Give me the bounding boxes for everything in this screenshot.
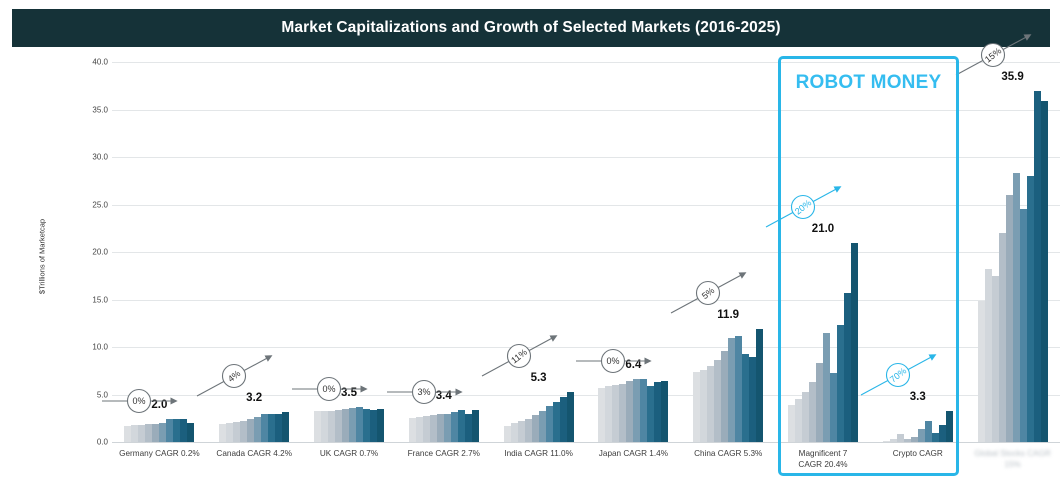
bar[interactable] xyxy=(444,414,451,443)
value-label-canada: 3.2 xyxy=(219,392,289,404)
bar-series xyxy=(314,62,384,442)
bar[interactable] xyxy=(321,411,328,442)
bar[interactable] xyxy=(567,392,574,442)
bar[interactable] xyxy=(978,301,985,442)
bar-group-canada[interactable] xyxy=(219,62,289,442)
y-tick-20.0: 20.0 xyxy=(92,248,108,257)
bar[interactable] xyxy=(166,419,173,442)
bar[interactable] xyxy=(370,410,377,442)
bar[interactable] xyxy=(268,414,275,443)
bar[interactable] xyxy=(423,416,430,442)
bar[interactable] xyxy=(546,406,553,442)
x-tick-canada: Canada CAGR 4.2% xyxy=(207,448,302,459)
bar[interactable] xyxy=(226,423,233,442)
value-label-india: 5.3 xyxy=(504,372,574,384)
y-axis-tick-labels: 0.05.010.015.020.025.030.035.040.0 xyxy=(72,62,108,442)
value-label-france: 3.4 xyxy=(409,390,479,402)
bar[interactable] xyxy=(1020,209,1027,442)
bar[interactable] xyxy=(240,421,247,442)
bar[interactable] xyxy=(633,379,640,442)
bar[interactable] xyxy=(458,410,465,442)
bar[interactable] xyxy=(1041,101,1048,442)
bar[interactable] xyxy=(437,414,444,442)
bar[interactable] xyxy=(1013,173,1020,442)
bar[interactable] xyxy=(342,409,349,442)
bar[interactable] xyxy=(532,415,539,442)
bar[interactable] xyxy=(756,329,763,442)
bar[interactable] xyxy=(233,422,240,442)
bar[interactable] xyxy=(518,421,525,442)
bar[interactable] xyxy=(314,411,321,442)
bar-group-india[interactable] xyxy=(504,62,574,442)
y-tick-40.0: 40.0 xyxy=(92,58,108,67)
bar[interactable] xyxy=(1006,195,1013,442)
bar[interactable] xyxy=(430,415,437,442)
bar[interactable] xyxy=(131,425,138,442)
bar[interactable] xyxy=(349,408,356,442)
bar[interactable] xyxy=(356,407,363,442)
bar-series xyxy=(978,62,1048,442)
chart-page: Market Capitalizations and Growth of Sel… xyxy=(0,0,1062,486)
bar[interactable] xyxy=(693,372,700,442)
bar[interactable] xyxy=(173,419,180,442)
bar[interactable] xyxy=(377,409,384,442)
page-title: Market Capitalizations and Growth of Sel… xyxy=(281,19,780,37)
bar[interactable] xyxy=(742,354,749,442)
bar[interactable] xyxy=(525,419,532,442)
bar[interactable] xyxy=(700,370,707,442)
bar[interactable] xyxy=(451,412,458,442)
bar-group-germany[interactable] xyxy=(124,62,194,442)
bar[interactable] xyxy=(504,426,511,442)
y-tick-15.0: 15.0 xyxy=(92,295,108,304)
value-label-uk: 3.5 xyxy=(314,387,384,399)
bar[interactable] xyxy=(159,423,166,442)
value-label-germany: 2.0 xyxy=(124,399,194,411)
x-tick-global-stocks: Global Stocks CAGR 15% xyxy=(965,448,1060,470)
bar[interactable] xyxy=(247,419,254,442)
x-tick-india: India CAGR 11.0% xyxy=(491,448,586,459)
x-tick-uk: UK CAGR 0.7% xyxy=(302,448,397,459)
x-tick-germany: Germany CAGR 0.2% xyxy=(112,448,207,459)
bar[interactable] xyxy=(721,351,728,442)
bar[interactable] xyxy=(560,397,567,442)
bar-group-france[interactable] xyxy=(409,62,479,442)
bar[interactable] xyxy=(714,360,721,442)
bar[interactable] xyxy=(335,410,342,442)
bar[interactable] xyxy=(605,386,612,442)
bar[interactable] xyxy=(999,233,1006,442)
bar[interactable] xyxy=(328,411,335,442)
bar[interactable] xyxy=(612,385,619,442)
bar[interactable] xyxy=(363,409,370,442)
bar[interactable] xyxy=(145,424,152,442)
bar-group-uk[interactable] xyxy=(314,62,384,442)
bar[interactable] xyxy=(219,424,226,442)
x-tick-china: China CAGR 5.3% xyxy=(681,448,776,459)
bar[interactable] xyxy=(598,388,605,442)
bar-series xyxy=(504,62,574,442)
bar[interactable] xyxy=(749,357,756,443)
bar[interactable] xyxy=(261,414,268,442)
bar[interactable] xyxy=(707,366,714,442)
bar[interactable] xyxy=(254,417,261,442)
bar[interactable] xyxy=(539,411,546,442)
bar[interactable] xyxy=(626,381,633,442)
bar-group-china[interactable] xyxy=(693,62,763,442)
value-label-china: 11.9 xyxy=(693,309,763,321)
x-tick-france: France CAGR 2.7% xyxy=(396,448,491,459)
y-tick-35.0: 35.0 xyxy=(92,105,108,114)
bar[interactable] xyxy=(985,269,992,442)
bar-series xyxy=(124,62,194,442)
bar[interactable] xyxy=(138,425,145,442)
bar[interactable] xyxy=(416,417,423,442)
bar[interactable] xyxy=(647,386,654,442)
y-axis-title: $Trillions of Marketcap xyxy=(38,182,47,332)
y-tick-30.0: 30.0 xyxy=(92,153,108,162)
bar[interactable] xyxy=(619,384,626,442)
y-tick-10.0: 10.0 xyxy=(92,343,108,352)
x-tick-japan: Japan CAGR 1.4% xyxy=(586,448,681,459)
bar-group-global-stocks[interactable] xyxy=(978,62,1048,442)
bar[interactable] xyxy=(282,412,289,442)
bar[interactable] xyxy=(728,338,735,442)
bar[interactable] xyxy=(654,382,661,442)
bar-series xyxy=(219,62,289,442)
y-tick-0.0: 0.0 xyxy=(97,438,108,447)
y-tick-5.0: 5.0 xyxy=(97,390,108,399)
bar[interactable] xyxy=(1027,176,1034,442)
bar[interactable] xyxy=(180,419,187,442)
bar-series xyxy=(693,62,763,442)
bar[interactable] xyxy=(735,336,742,442)
bar-group-japan[interactable] xyxy=(598,62,668,442)
bar[interactable] xyxy=(152,424,159,442)
bar[interactable] xyxy=(511,423,518,442)
robot-money-label: ROBOT MONEY xyxy=(796,72,942,94)
bar[interactable] xyxy=(661,381,668,442)
chart-title-bar: Market Capitalizations and Growth of Sel… xyxy=(12,9,1050,47)
bar-series xyxy=(598,62,668,442)
bar[interactable] xyxy=(640,379,647,442)
value-label-japan: 6.4 xyxy=(598,359,668,371)
bar[interactable] xyxy=(1034,91,1041,443)
robot-money-callout-box xyxy=(778,56,960,476)
bar[interactable] xyxy=(275,414,282,443)
bar[interactable] xyxy=(465,414,472,442)
bar[interactable] xyxy=(472,410,479,442)
bar-series xyxy=(409,62,479,442)
bar[interactable] xyxy=(187,423,194,442)
bar[interactable] xyxy=(992,276,999,442)
y-tick-25.0: 25.0 xyxy=(92,200,108,209)
value-label-global-stocks: 35.9 xyxy=(978,71,1048,83)
bar[interactable] xyxy=(409,418,416,442)
bar[interactable] xyxy=(553,402,560,442)
bar[interactable] xyxy=(124,426,131,442)
